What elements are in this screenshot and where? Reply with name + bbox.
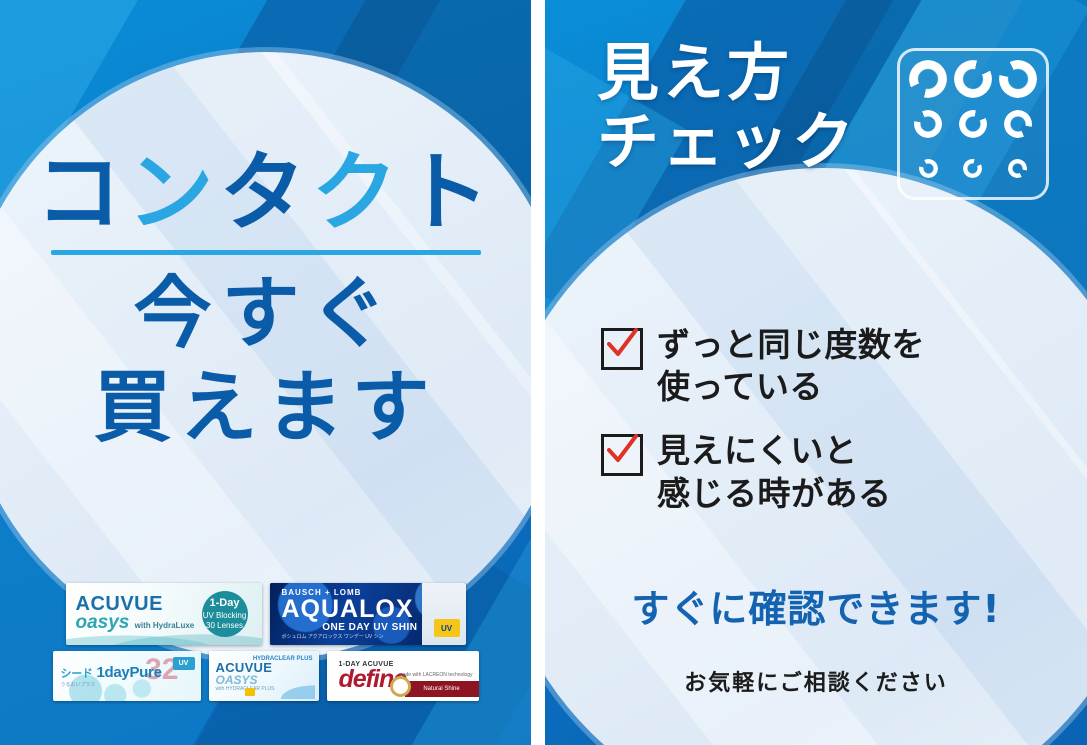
define-tiny: made with LACREON technology bbox=[399, 672, 473, 678]
landolt-ring-r2c1 bbox=[914, 110, 942, 138]
landolt-ring-r1c1 bbox=[909, 60, 947, 98]
headline-char-1: ン bbox=[128, 150, 220, 236]
landolt-ring-r3c2 bbox=[963, 159, 982, 178]
landolt-c-chart bbox=[897, 48, 1049, 200]
oasys2-tag: HYDRACLEAR PLUS bbox=[253, 656, 313, 662]
headline-char-4: ト bbox=[404, 150, 496, 236]
oasys-sub-note: with HydraLuxe bbox=[135, 621, 195, 630]
pure-uv-chip: UV bbox=[173, 657, 195, 670]
headline-buy: 買えます bbox=[0, 369, 531, 447]
headline-underline bbox=[51, 250, 481, 255]
landolt-ring-r3c3 bbox=[1008, 159, 1027, 178]
headline-char-2: タ bbox=[220, 150, 312, 236]
landolt-ring-r1c2 bbox=[954, 60, 992, 98]
landolt-ring-r3c1 bbox=[919, 159, 938, 178]
landolt-ring-r2c2 bbox=[959, 110, 987, 138]
oasys2-brand: ACUVUE bbox=[216, 661, 319, 674]
landolt-ring-r1c3 bbox=[999, 60, 1037, 98]
product-row-bottom: 32 UV シード 1dayPure うるおいプラス HYDRACLEAR PL… bbox=[42, 651, 489, 701]
cta-main-text: すぐに確認できます! bbox=[545, 578, 1087, 633]
product-lineup: 1-Day UV Blocking 30 Lenses ACUVUE oasys… bbox=[0, 583, 531, 707]
landolt-ring-r2c3 bbox=[1004, 110, 1032, 138]
oasys-1day-badge: 1-Day UV Blocking 30 Lenses bbox=[202, 591, 248, 637]
checklist-item-0[interactable]: ずっと同じ度数を 使っている bbox=[601, 324, 1041, 408]
oasys-badge-top: 1-Day bbox=[210, 596, 240, 611]
define-lens-ring bbox=[390, 676, 411, 697]
product-box-aqualox: UV BAUSCH + LOMB AQUALOX ONE DAY UV SHIN… bbox=[270, 583, 466, 645]
product-box-oasys-hydraclear: HYDRACLEAR PLUS ACUVUE OASYS with HYDRAC… bbox=[209, 651, 319, 701]
oasys2-sub: OASYS bbox=[216, 674, 319, 686]
vision-check-title-line1: 見え方 bbox=[597, 38, 857, 107]
oasys-badge-mid: UV Blocking bbox=[203, 611, 247, 622]
aqualox-uv-chip: UV bbox=[434, 619, 460, 637]
headline-now: 今すぐ bbox=[0, 275, 531, 353]
oasys-badge-bottom: 30 Lenses bbox=[206, 621, 243, 632]
oasys2-seal bbox=[245, 688, 255, 696]
oasys2-sub-note: with HYDRACLEAR PLUS bbox=[216, 686, 319, 692]
checklist-item-1[interactable]: 見えにくいと 感じる時がある bbox=[601, 430, 1041, 514]
panel-divider bbox=[531, 0, 545, 745]
oasys-sub: oasys bbox=[76, 612, 130, 633]
contact-lens-panel: コンタクト 今すぐ 買えます 1-Day UV Blocking 30 Lens… bbox=[0, 0, 531, 745]
headline-contact: コンタクト bbox=[0, 150, 531, 236]
checkbox-checked-icon-0[interactable] bbox=[601, 328, 643, 370]
product-box-acuvue-oasys-1day: 1-Day UV Blocking 30 Lenses ACUVUE oasys… bbox=[66, 583, 262, 645]
checklist-label-1: 見えにくいと 感じる時がある bbox=[657, 430, 892, 514]
vision-check-title: 見え方 チェック bbox=[597, 38, 857, 177]
left-headline: コンタクト 今すぐ 買えます bbox=[0, 150, 531, 447]
headline-char-3: ク bbox=[312, 150, 404, 236]
product-row-top: 1-Day UV Blocking 30 Lenses ACUVUE oasys… bbox=[42, 583, 489, 645]
vision-check-title-line2: チェック bbox=[597, 107, 857, 176]
product-box-1daypure: 32 UV シード 1dayPure うるおいプラス bbox=[53, 651, 201, 701]
cta-sub-text: お気軽にご相談ください bbox=[545, 665, 1087, 697]
vision-check-panel: 見え方 チェック ず bbox=[545, 0, 1087, 745]
pure-brand-prefix: シード bbox=[61, 668, 93, 680]
poster-root: コンタクト 今すぐ 買えます 1-Day UV Blocking 30 Lens… bbox=[0, 0, 1087, 745]
headline-char-0: コ bbox=[36, 150, 128, 236]
symptom-checklist: ずっと同じ度数を 使っている 見えにくいと 感じる時がある bbox=[601, 324, 1041, 537]
pure-title: 1dayPure bbox=[96, 664, 161, 681]
checkbox-checked-icon-1[interactable] bbox=[601, 434, 643, 476]
pure-sub: うるおいプラス bbox=[61, 681, 201, 688]
checklist-label-0: ずっと同じ度数を 使っている bbox=[657, 324, 925, 408]
product-box-define: made with LACREON technology Natural Shi… bbox=[327, 651, 479, 701]
